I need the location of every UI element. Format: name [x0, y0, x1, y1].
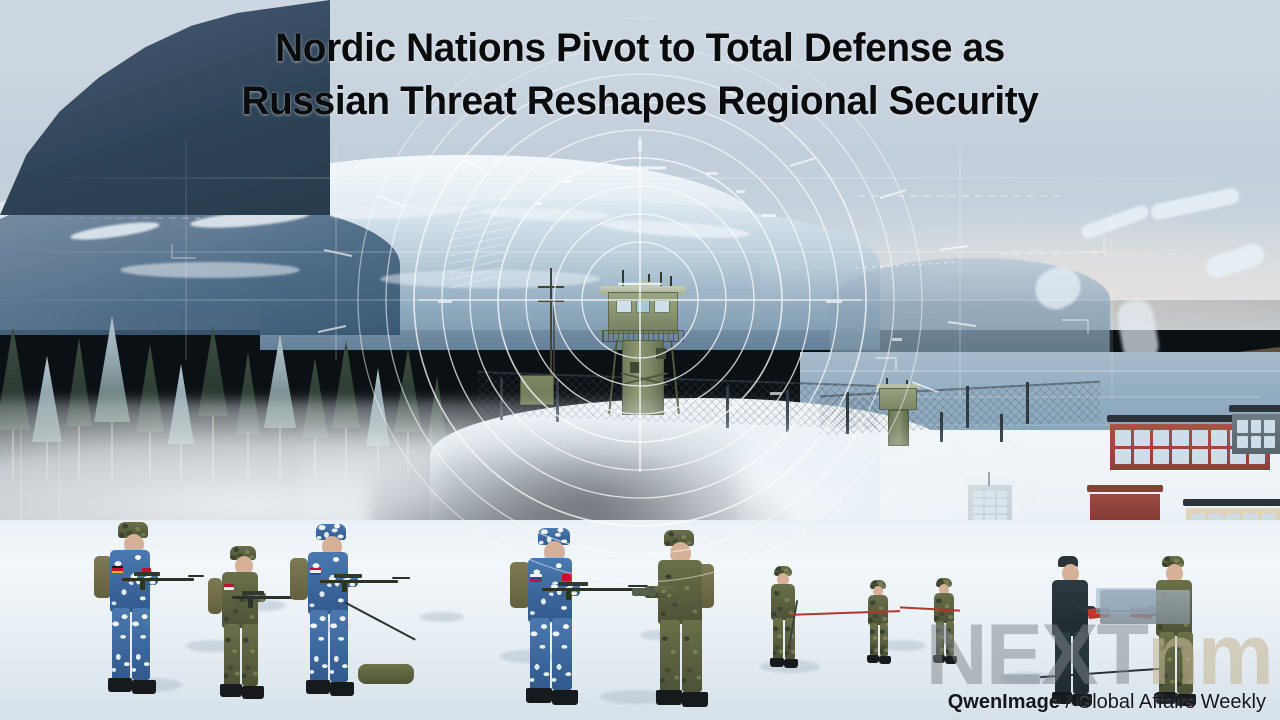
news-image-card: NEXTnm QwenImage / Global Affairs Weekly… — [0, 0, 1280, 720]
utility-pole-crossarm — [538, 286, 564, 288]
image-credit-caption: QwenImage / Global Affairs Weekly — [948, 691, 1266, 714]
fence-post — [846, 392, 849, 434]
soldier-woodland-camo-1 — [208, 546, 274, 708]
watermark-part-b: nm — [1147, 607, 1272, 703]
held-document — [632, 588, 656, 596]
flag-patch — [112, 566, 123, 573]
soldier-winter-camo-2 — [290, 524, 366, 710]
utility-pole-crossarm — [538, 300, 564, 302]
flag-patch — [224, 584, 234, 590]
utility-pole — [550, 268, 552, 376]
caption-publication: Global Affairs Weekly — [1077, 691, 1266, 713]
fence-post — [966, 386, 969, 428]
building-red-small — [1090, 494, 1160, 520]
caption-separator: / — [1060, 691, 1077, 713]
soldier-background-2 — [862, 580, 896, 672]
flag-patch — [562, 574, 571, 581]
soldier-winter-camo-3 — [510, 528, 590, 714]
fence-post — [1026, 382, 1029, 424]
flag-patch — [530, 574, 542, 582]
page-title: Nordic Nations Pivot to Total Defense as… — [19, 22, 1261, 128]
utility-pole — [553, 306, 555, 384]
brand-watermark: NEXTnm — [926, 612, 1272, 698]
headline-line-1: Nordic Nations Pivot to Total Defense as — [19, 22, 1261, 75]
soldier-background-1 — [764, 566, 804, 674]
military-watchtower — [600, 270, 686, 415]
equipment-bundle — [358, 664, 414, 684]
flag-patch — [310, 568, 321, 575]
building-grey-gable — [1232, 414, 1280, 454]
watermark-part-a: NEXT — [926, 607, 1147, 703]
soldier-winter-camo-1 — [92, 522, 164, 708]
caption-source: QwenImage — [948, 691, 1060, 713]
headline-line-2: Russian Threat Reshapes Regional Securit… — [19, 75, 1261, 128]
soldier-woodland-camo-2 — [648, 530, 720, 716]
